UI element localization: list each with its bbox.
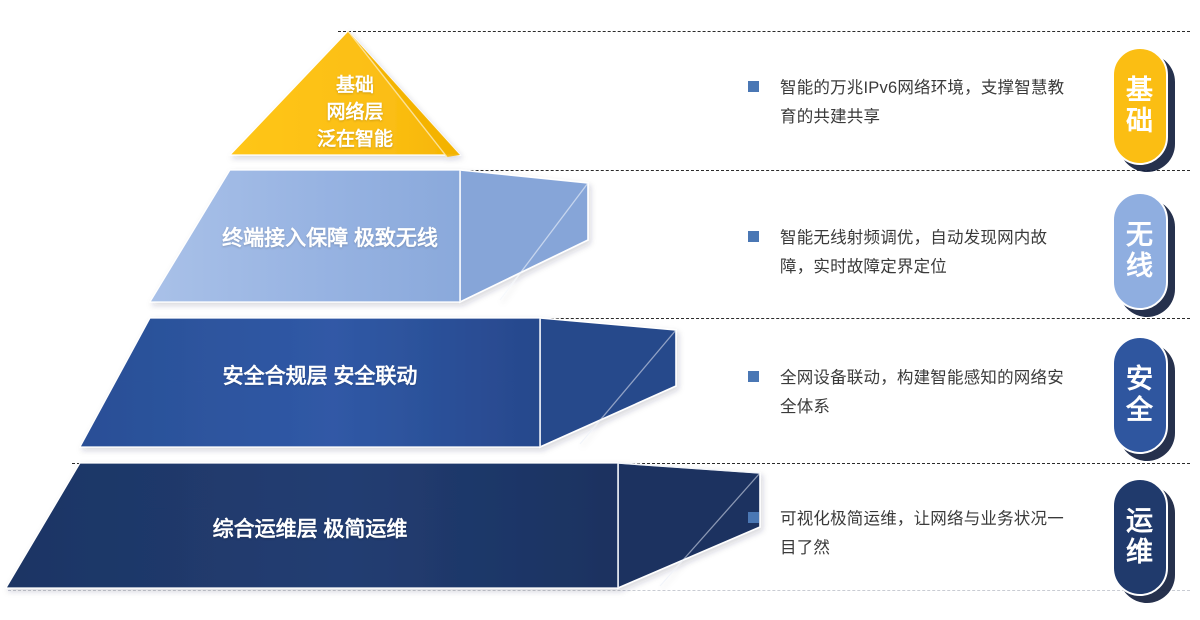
badge-column: 基 础 无 线 安 全 运 维 <box>1108 0 1200 620</box>
pyramid-label-layer-4: 综合运维层 极简运维 <box>80 513 540 543</box>
description-text-layer-1: 智能的万兆IPv6网络环境，支撑智慧教育的共建共享 <box>780 74 1076 132</box>
badge-layer-1-char-1: 基 <box>1126 75 1154 106</box>
square-bullet-icon <box>748 512 759 523</box>
pyramid-label-layer-2: 终端接入保障 极致无线 <box>150 222 510 252</box>
description-item-layer-4: 可视化极简运维，让网络与业务状况一目了然 <box>748 505 1078 563</box>
pyramid-label-layer-3: 安全合规层 安全联动 <box>110 360 530 390</box>
badge-layer-3[interactable]: 安 全 <box>1112 336 1168 454</box>
description-item-layer-2: 智能无线射频调优，自动发现网内故障，实时故障定界定位 <box>748 224 1078 282</box>
badge-layer-1-char-2: 础 <box>1126 106 1154 137</box>
pyramid-label-layer-1-line-1: 基础 <box>300 72 410 99</box>
square-bullet-icon <box>748 231 759 242</box>
badge-layer-4-char-2: 维 <box>1126 537 1154 568</box>
badge-layer-4-char-1: 运 <box>1126 506 1154 537</box>
badge-layer-3-char-1: 安 <box>1126 364 1154 395</box>
pyramid-label-layer-1-line-2: 网络层 <box>300 99 410 126</box>
description-item-layer-1: 智能的万兆IPv6网络环境，支撑智慧教育的共建共享 <box>748 74 1078 132</box>
description-text-layer-4: 可视化极简运维，让网络与业务状况一目了然 <box>780 505 1076 563</box>
description-text-layer-2: 智能无线射频调优，自动发现网内故障，实时故障定界定位 <box>780 224 1076 282</box>
badge-layer-2-char-2: 线 <box>1126 251 1154 282</box>
pyramid-label-layer-1: 基础 网络层 泛在智能 <box>300 72 410 153</box>
square-bullet-icon <box>748 371 759 382</box>
badge-layer-2-char-1: 无 <box>1126 220 1154 251</box>
badge-layer-4[interactable]: 运 维 <box>1112 478 1168 596</box>
description-text-layer-3: 全网设备联动，构建智能感知的网络安全体系 <box>780 364 1076 422</box>
pyramid-label-layer-1-line-3: 泛在智能 <box>300 126 410 153</box>
description-item-layer-3: 全网设备联动，构建智能感知的网络安全体系 <box>748 364 1078 422</box>
diagram-canvas: 基础 网络层 泛在智能 终端接入保障 极致无线 安全合规层 安全联动 综合运维层… <box>0 0 1200 620</box>
description-list: 智能的万兆IPv6网络环境，支撑智慧教育的共建共享 智能无线射频调优，自动发现网… <box>748 0 1078 620</box>
badge-layer-3-char-2: 全 <box>1126 395 1154 426</box>
badge-layer-2[interactable]: 无 线 <box>1112 192 1168 310</box>
badge-layer-1[interactable]: 基 础 <box>1112 47 1168 165</box>
square-bullet-icon <box>748 81 759 92</box>
